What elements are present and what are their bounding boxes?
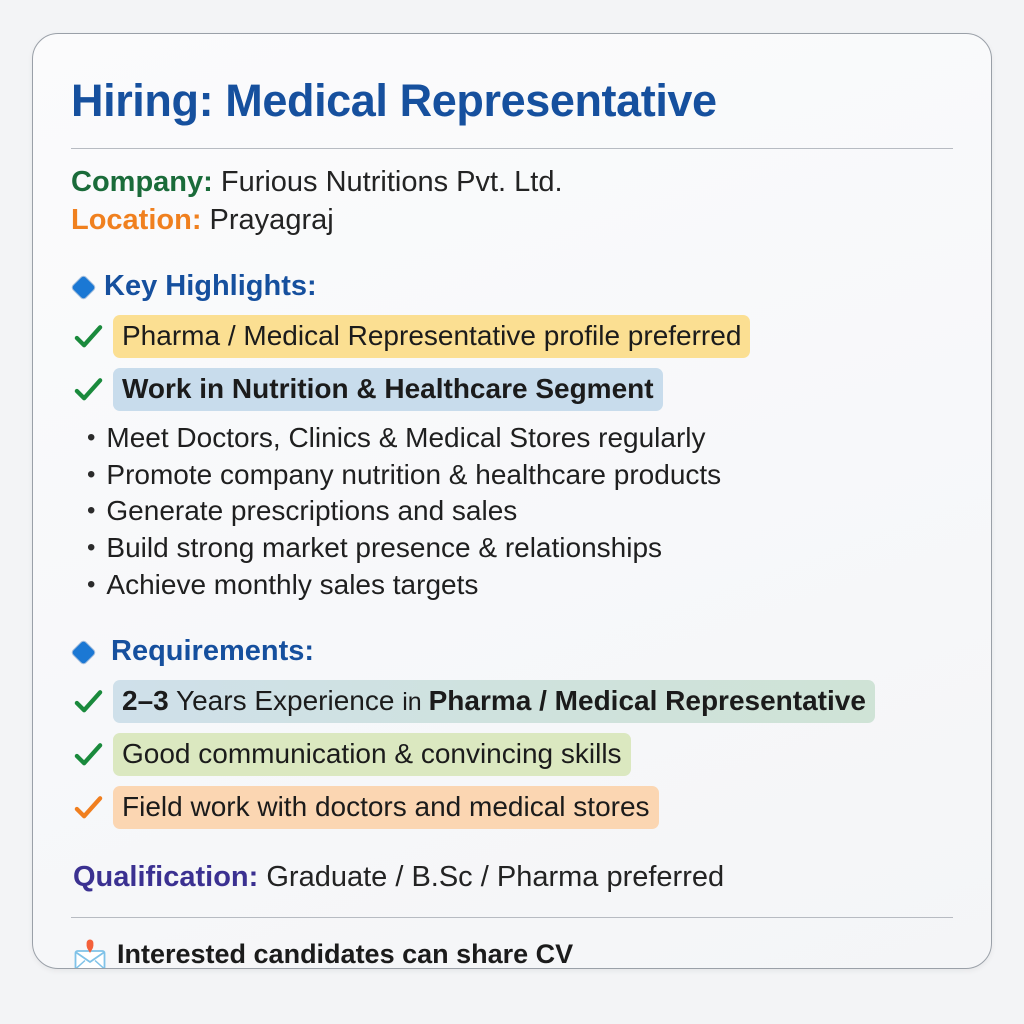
requirement-text-experience: 2–3 Years Experience in Pharma / Medical… (113, 680, 875, 723)
green-check-icon (73, 321, 104, 352)
bullet-dot-icon: • (87, 536, 95, 560)
list-item: •Meet Doctors, Clinics & Medical Stores … (87, 420, 955, 457)
location-label: Location: (71, 204, 202, 236)
footer-divider (71, 917, 953, 918)
blue-diamond-icon (71, 640, 95, 664)
experience-domain: Pharma / Medical Representative (429, 685, 866, 716)
company-label: Company: (71, 166, 213, 198)
header-divider (71, 148, 953, 149)
section-title-requirements: Requirements: (111, 635, 314, 668)
footer-block: Interested candidates can share CV Email… (73, 938, 955, 969)
requirement-check-row: Good communication & convincing skills (73, 733, 955, 776)
list-item: •Achieve monthly sales targets (87, 567, 955, 604)
incoming-envelope-icon (73, 938, 107, 969)
list-item-label: Achieve monthly sales targets (106, 567, 478, 604)
share-cv-text: Interested candidates can share CV (117, 939, 573, 969)
bullet-dot-icon: • (87, 463, 95, 487)
list-item-label: Meet Doctors, Clinics & Medical Stores r… (106, 420, 705, 457)
requirement-check-row: Field work with doctors and medical stor… (73, 786, 955, 829)
company-row: Company: Furious Nutritions Pvt. Ltd. (71, 163, 955, 202)
page-title: Hiring: Medical Representative (71, 76, 955, 126)
qualification-value: Graduate / B.Sc / Pharma preferred (258, 861, 724, 893)
experience-normal: Years Experience (169, 685, 403, 716)
list-item: •Promote company nutrition & healthcare … (87, 457, 955, 494)
requirement-text-field-work: Field work with doctors and medical stor… (113, 786, 659, 829)
green-check-icon (73, 739, 104, 770)
blue-diamond-icon (71, 275, 95, 299)
list-item: •Generate prescriptions and sales (87, 493, 955, 530)
share-cv-row: Interested candidates can share CV (73, 938, 955, 969)
company-value: Furious Nutritions Pvt. Ltd. (213, 166, 563, 198)
qualification-row: Qualification: Graduate / B.Sc / Pharma … (73, 859, 955, 897)
green-check-icon (73, 686, 104, 717)
highlight-text-nutrition-segment: Work in Nutrition & Healthcare Segment (113, 368, 663, 411)
location-row: Location: Prayagraj (71, 201, 955, 240)
location-value: Prayagraj (202, 204, 334, 236)
list-item-label: Promote company nutrition & healthcare p… (106, 457, 721, 494)
requirement-check-row: 2–3 Years Experience in Pharma / Medical… (73, 680, 955, 723)
green-check-icon (73, 374, 104, 405)
section-header-key-highlights: Key Highlights: (75, 270, 955, 303)
orange-check-icon (73, 792, 104, 823)
responsibilities-list: •Meet Doctors, Clinics & Medical Stores … (69, 420, 955, 603)
list-item-label: Generate prescriptions and sales (106, 493, 517, 530)
highlight-check-row: Pharma / Medical Representative profile … (73, 315, 955, 358)
experience-years: 2–3 (122, 685, 169, 716)
bullet-dot-icon: • (87, 573, 95, 597)
highlight-text-pharma-profile: Pharma / Medical Representative profile … (113, 315, 750, 358)
qualification-label: Qualification: (73, 861, 258, 893)
bullet-dot-icon: • (87, 499, 95, 523)
experience-in: in (402, 688, 428, 716)
list-item: •Build strong market presence & relation… (87, 530, 955, 567)
job-poster-card: Hiring: Medical Representative Company: … (32, 33, 992, 969)
bullet-dot-icon: • (87, 426, 95, 450)
meta-block: Company: Furious Nutritions Pvt. Ltd. Lo… (69, 163, 955, 241)
list-item-label: Build strong market presence & relations… (106, 530, 662, 567)
highlight-check-row: Work in Nutrition & Healthcare Segment (73, 368, 955, 411)
requirement-text-communication: Good communication & convincing skills (113, 733, 631, 776)
section-title-key-highlights: Key Highlights: (104, 270, 317, 303)
section-header-requirements: Requirements: (75, 635, 955, 668)
